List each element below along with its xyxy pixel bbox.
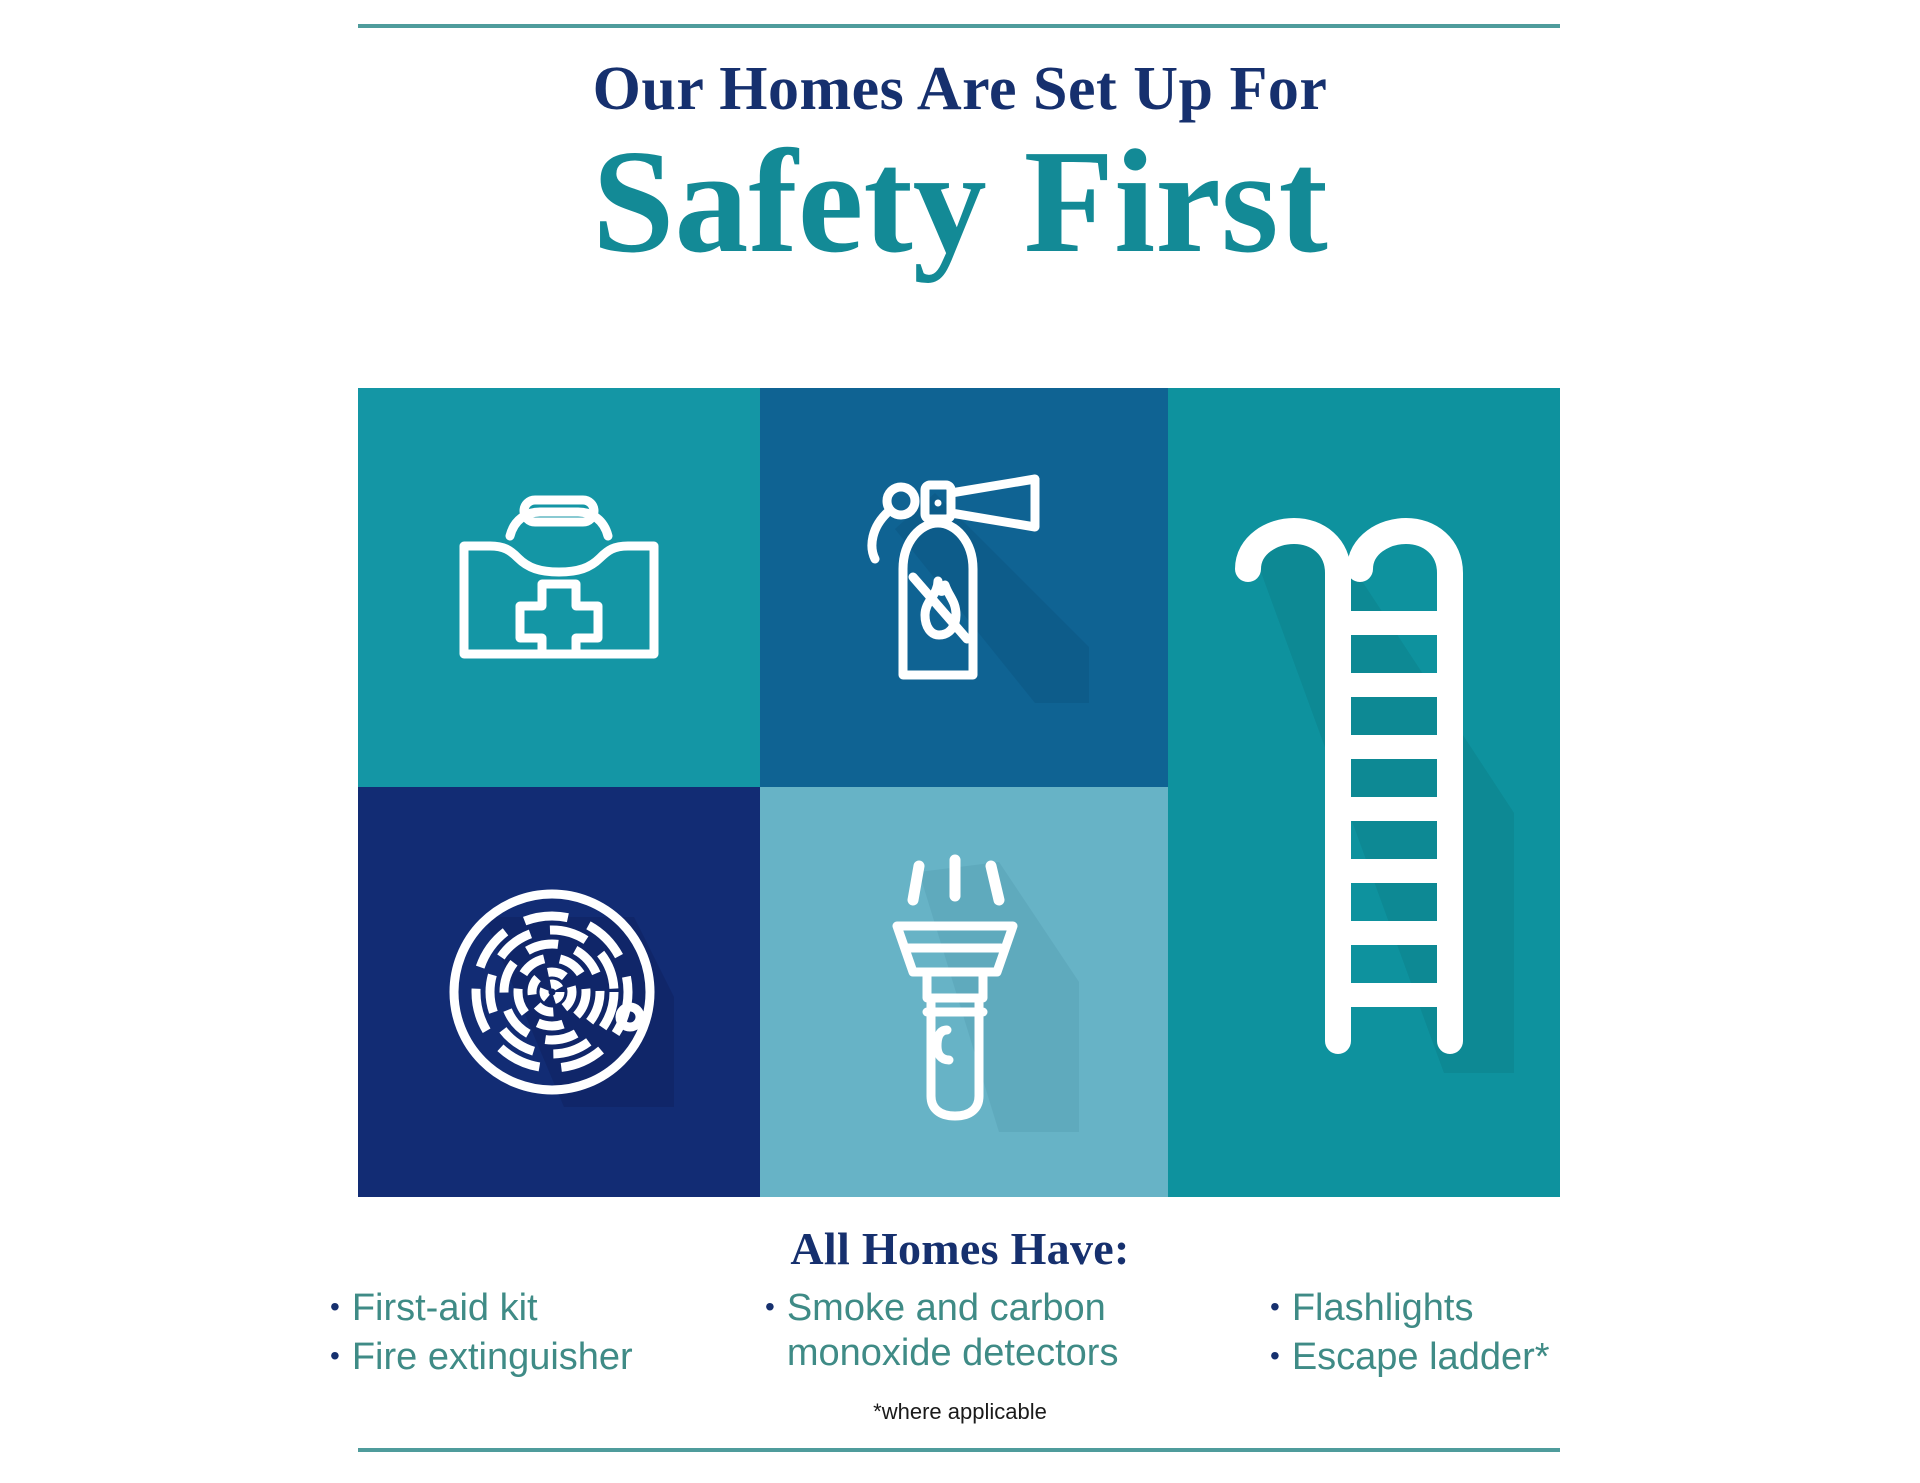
bullet-dot-icon: • xyxy=(330,1286,340,1328)
title-line-2: Safety First xyxy=(0,128,1920,276)
checklist-column-3: • Flashlights • Escape ladder* xyxy=(1270,1286,1600,1384)
tile-escape-ladder xyxy=(1168,388,1560,1197)
bullet-dot-icon: • xyxy=(1270,1286,1280,1328)
list-item: • Escape ladder* xyxy=(1270,1335,1600,1380)
list-item: • Flashlights xyxy=(1270,1286,1600,1331)
flashlight-icon xyxy=(760,787,1168,1197)
list-item-label: First-aid kit xyxy=(352,1286,538,1331)
list-item-label: Flashlights xyxy=(1292,1286,1474,1331)
list-item: • Fire extinguisher xyxy=(330,1335,660,1380)
checklist-column-2: • Smoke and carbon monoxide detectors xyxy=(765,1286,1165,1380)
icon-grid xyxy=(358,388,1560,1197)
section-subheading: All Homes Have: xyxy=(0,1222,1920,1275)
tile-first-aid-kit xyxy=(358,388,760,787)
first-aid-kit-icon xyxy=(358,388,760,787)
page-title: Our Homes Are Set Up For Safety First xyxy=(0,58,1920,276)
bullet-dot-icon: • xyxy=(765,1286,775,1328)
checklist-columns: • First-aid kit • Fire extinguisher • Sm… xyxy=(330,1286,1600,1384)
list-item-label: Fire extinguisher xyxy=(352,1335,633,1380)
fire-extinguisher-icon xyxy=(760,388,1168,787)
safety-first-poster: Our Homes Are Set Up For Safety First xyxy=(0,0,1920,1483)
tile-fire-extinguisher xyxy=(760,388,1168,787)
list-item-label: Escape ladder* xyxy=(1292,1335,1550,1380)
list-item: • Smoke and carbon monoxide detectors xyxy=(765,1286,1165,1376)
tile-flashlight xyxy=(760,787,1168,1197)
escape-ladder-icon xyxy=(1168,388,1560,1197)
bottom-divider-rule xyxy=(358,1448,1560,1452)
list-item: • First-aid kit xyxy=(330,1286,660,1331)
bullet-dot-icon: • xyxy=(1270,1335,1280,1377)
list-item-label: Smoke and carbon monoxide detectors xyxy=(787,1286,1119,1376)
checklist-column-1: • First-aid kit • Fire extinguisher xyxy=(330,1286,660,1384)
title-line-1: Our Homes Are Set Up For xyxy=(0,58,1920,120)
tile-smoke-detector xyxy=(358,787,760,1197)
footnote: *where applicable xyxy=(0,1399,1920,1425)
bullet-dot-icon: • xyxy=(330,1335,340,1377)
smoke-detector-icon xyxy=(358,787,760,1197)
top-divider-rule xyxy=(358,24,1560,28)
